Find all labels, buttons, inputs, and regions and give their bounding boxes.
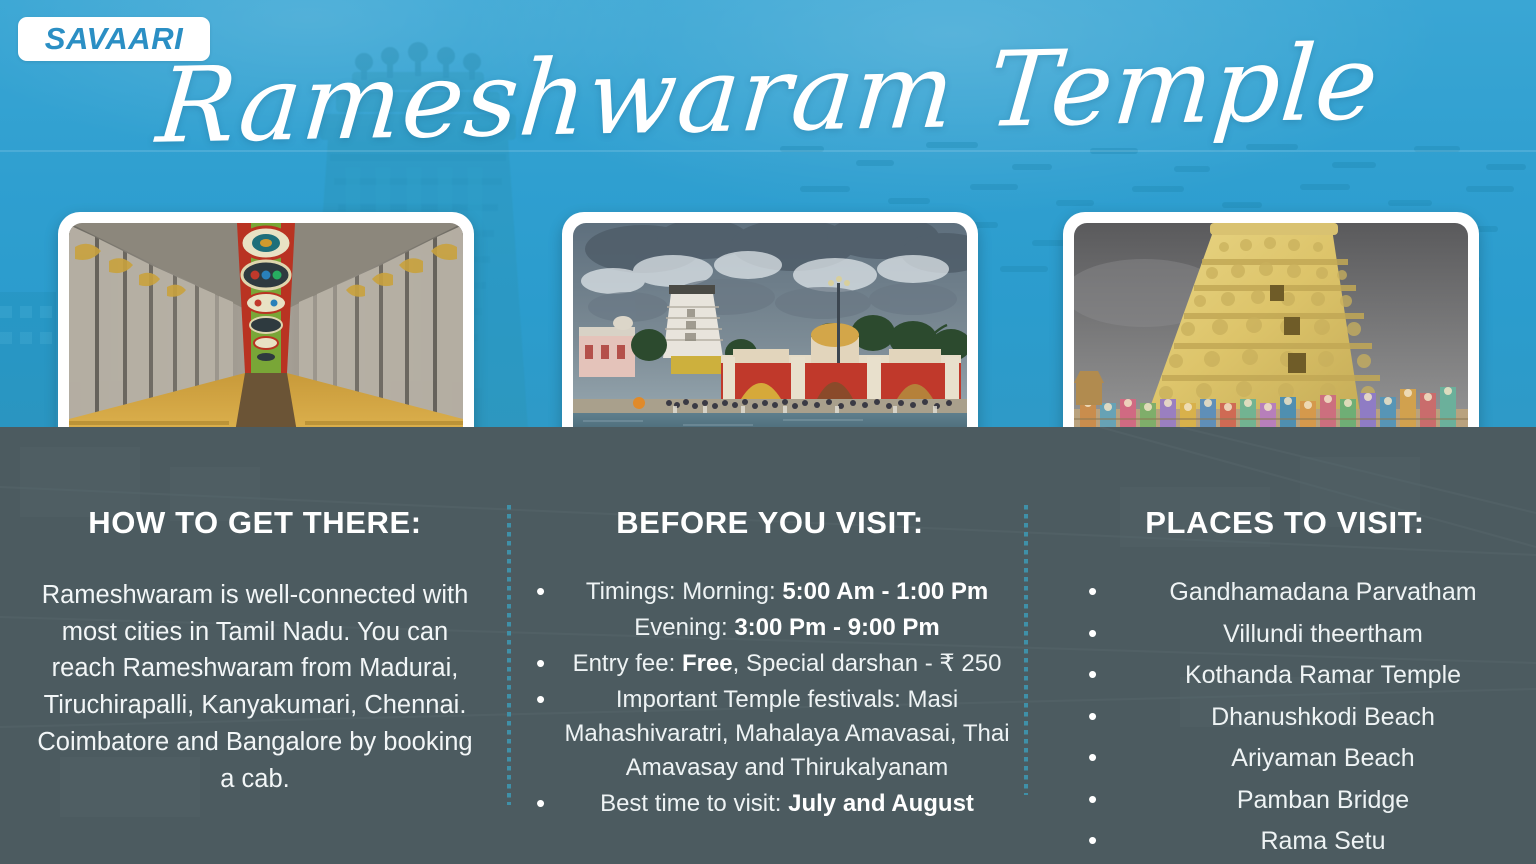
list-item: Ariyaman Beach [1040, 741, 1530, 777]
list-item: Entry fee: Free, Special darshan - ₹ 250 [520, 647, 1020, 681]
column-how-to-get-there: HOW TO GET THERE: Rameshwaram is well-co… [10, 427, 500, 797]
how-to-get-there-text: Rameshwaram is well-connected with most … [10, 577, 500, 797]
list-item: Rama Setu [1040, 824, 1530, 860]
list-item: Best time to visit: July and August [520, 787, 1020, 821]
temple-corridor-image [69, 223, 463, 444]
list-item: Timings: Morning: 5:00 Am - 1:00 Pm [520, 575, 1020, 609]
list-item: Evening: 3:00 Pm - 9:00 Pm [520, 611, 1020, 645]
photo-card-corridor [58, 212, 474, 455]
before-you-visit-heading: BEFORE YOU VISIT: [520, 505, 1020, 541]
infographic-poster: SAVAARI Rameshwaram Temple [0, 0, 1536, 864]
how-to-get-there-heading: HOW TO GET THERE: [10, 505, 500, 541]
column-places-to-visit: PLACES TO VISIT: Gandhamadana ParvathamV… [1040, 427, 1530, 864]
list-item-value: 5:00 Am - 1:00 Pm [782, 578, 988, 605]
photo-card-gopuram [1063, 212, 1479, 455]
list-item: Kothanda Ramar Temple [1040, 658, 1530, 694]
temple-from-sea-image [573, 223, 967, 444]
list-item: Pamban Bridge [1040, 783, 1530, 819]
photo-frame [1074, 223, 1468, 444]
places-to-visit-list: Gandhamadana ParvathamVillundi theertham… [1040, 575, 1530, 860]
list-item-value: 3:00 Pm - 9:00 Pm [734, 614, 939, 641]
list-item-tail: , Special darshan - ₹ 250 [733, 650, 1002, 677]
before-you-visit-list: Timings: Morning: 5:00 Am - 1:00 PmEveni… [520, 575, 1020, 822]
info-panel: HOW TO GET THERE: Rameshwaram is well-co… [0, 427, 1536, 864]
list-item: Dhanushkodi Beach [1040, 700, 1530, 736]
list-item-value: Free [682, 650, 733, 677]
list-item-value: July and August [788, 790, 974, 817]
list-item-label: Evening: [634, 614, 734, 641]
column-before-you-visit: BEFORE YOU VISIT: Timings: Morning: 5:00… [520, 427, 1020, 824]
list-item: Villundi theertham [1040, 617, 1530, 653]
photo-frame [573, 223, 967, 444]
gopuram-tower-image [1074, 223, 1468, 444]
list-item-label: Best time to visit: [600, 790, 788, 817]
divider-left [507, 505, 511, 805]
list-item-label: Important Temple festivals: Masi Mahashi… [564, 686, 1009, 781]
photo-card-temple-from-sea [562, 212, 978, 455]
list-item-label: Timings: Morning: [586, 578, 783, 605]
divider-right [1024, 505, 1028, 795]
list-item-label: Entry fee: [573, 650, 682, 677]
list-item: Gandhamadana Parvatham [1040, 575, 1530, 611]
photo-frame [69, 223, 463, 444]
list-item: Important Temple festivals: Masi Mahashi… [520, 683, 1020, 785]
page-title: Rameshwaram Temple [0, 25, 1536, 164]
places-to-visit-heading: PLACES TO VISIT: [1040, 505, 1530, 541]
